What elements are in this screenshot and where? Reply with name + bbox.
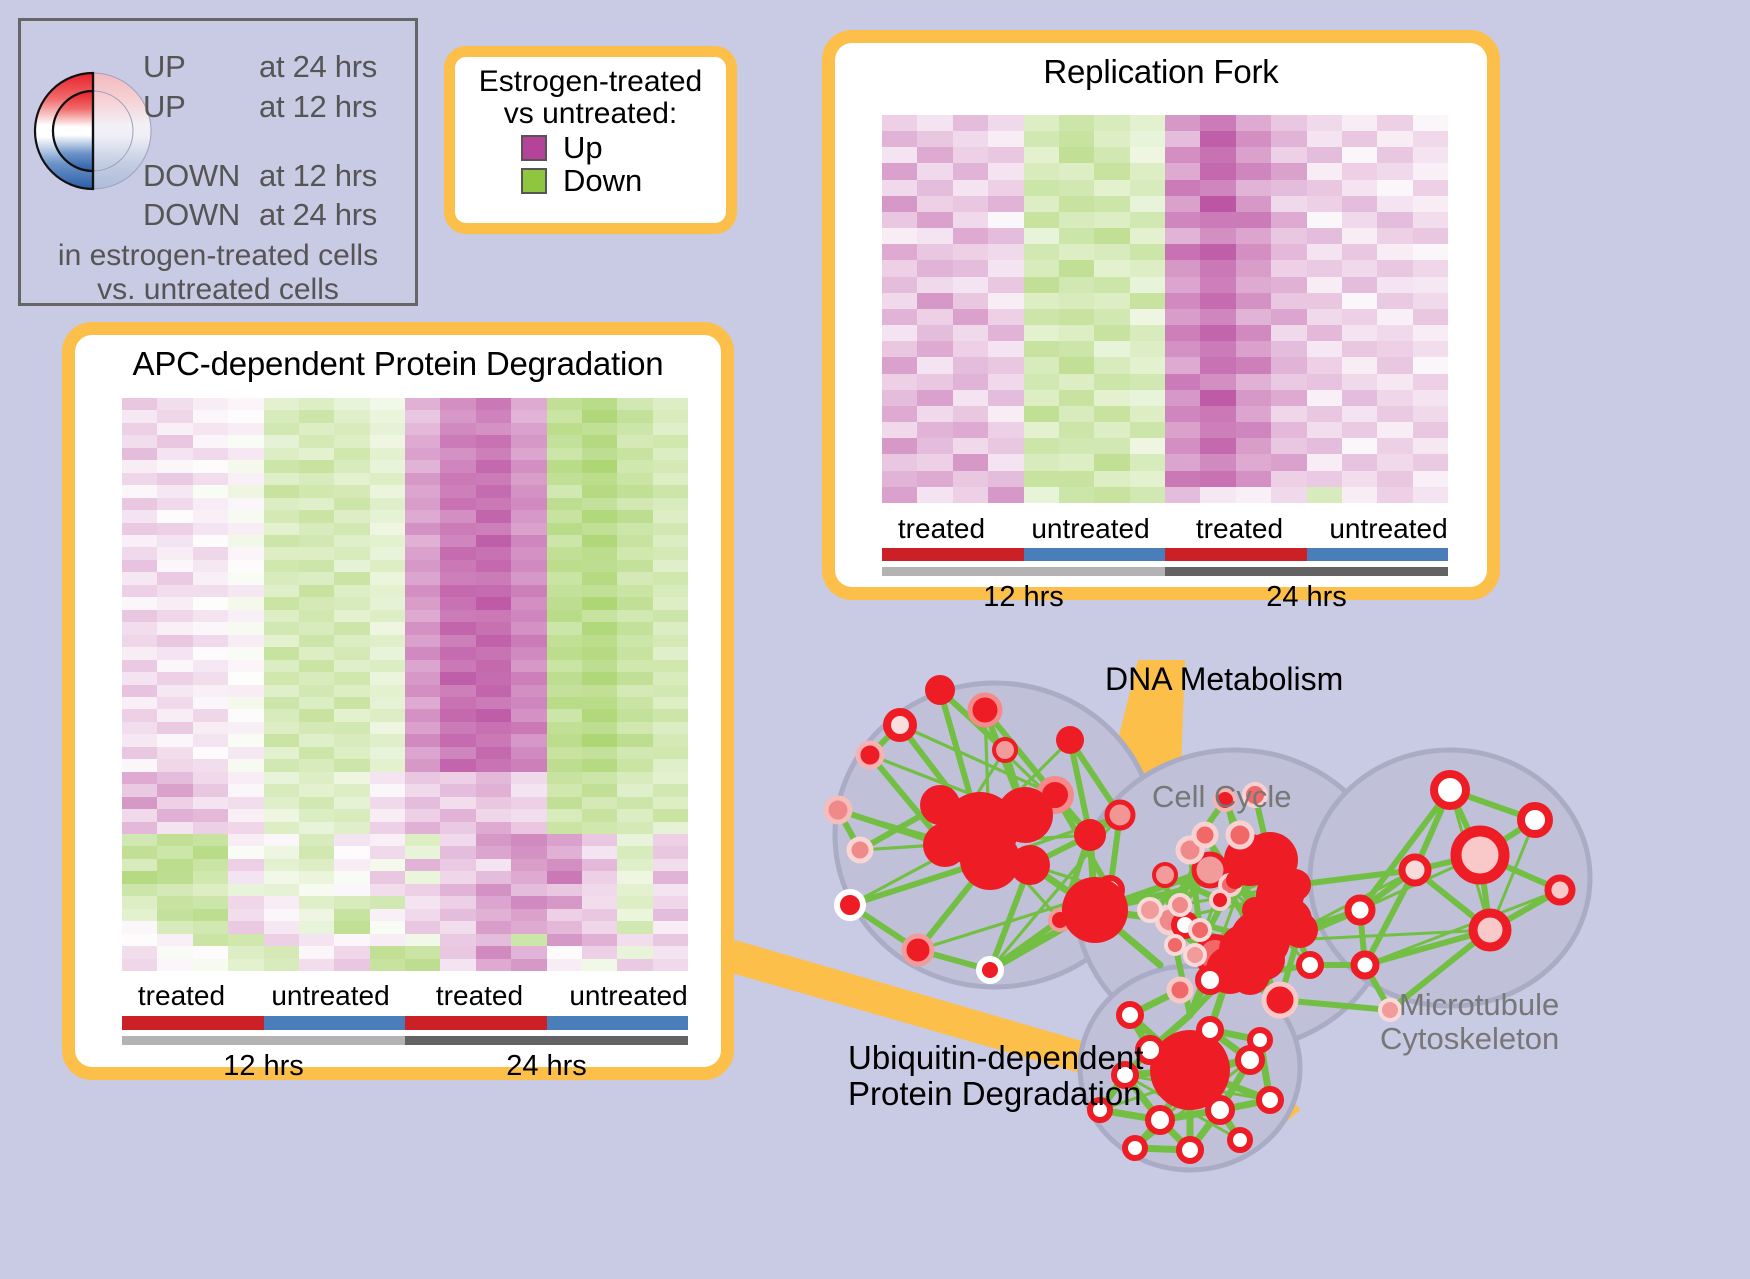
heatmap-cell <box>582 846 617 858</box>
heatmap-cell <box>1377 309 1412 325</box>
heatmap-cell <box>193 610 228 622</box>
heatmap-cell <box>617 959 652 971</box>
legend-label-up: Up <box>563 132 603 163</box>
heatmap-cell <box>988 244 1023 260</box>
heatmap-cell <box>122 610 157 622</box>
heatmap-cell <box>193 448 228 460</box>
heatmap-cell <box>653 622 688 634</box>
heatmap-cell <box>157 697 192 709</box>
heatmap-cell <box>617 747 652 759</box>
heatmap-cell <box>264 510 299 522</box>
heatmap-cell <box>617 498 652 510</box>
heatmap-cell <box>299 585 334 597</box>
heatmap-cell <box>405 510 440 522</box>
heatmap-cell <box>122 734 157 746</box>
heatmap-cell <box>299 909 334 921</box>
heatmap-cell <box>547 498 582 510</box>
heatmap-cell <box>157 460 192 472</box>
heatmap-cell <box>1307 180 1342 196</box>
heatmap-cell <box>476 647 511 659</box>
time-segment <box>122 1036 405 1045</box>
heatmap-cell <box>228 622 263 634</box>
heatmap-cell <box>1165 454 1200 470</box>
heatmap-cell <box>476 697 511 709</box>
heatmap-cell <box>264 610 299 622</box>
heatmap-cell <box>1342 422 1377 438</box>
heatmap-cell <box>582 709 617 721</box>
heatmap-cell <box>1200 406 1235 422</box>
heatmap-cell <box>1059 341 1094 357</box>
heatmap-cell <box>370 871 405 883</box>
heatmap-cell <box>405 759 440 771</box>
heatmap-cell <box>917 454 952 470</box>
heatmap-cell <box>299 809 334 821</box>
heatmap-cell <box>511 672 546 684</box>
heatmap-cell <box>264 672 299 684</box>
heatmap-cell <box>617 523 652 535</box>
time-label: 24 hrs <box>1165 581 1448 614</box>
key-label-2: DOWN <box>143 158 259 194</box>
heatmap-cell <box>440 410 475 422</box>
heatmap-cell <box>228 535 263 547</box>
time-label: 24 hrs <box>405 1050 688 1083</box>
heatmap-cell <box>1130 277 1165 293</box>
heatmap-cell <box>1024 212 1059 228</box>
heatmap-cell <box>1307 309 1342 325</box>
heatmap-cell <box>264 759 299 771</box>
heatmap-cell <box>122 809 157 821</box>
heatmap-cell <box>1377 260 1412 276</box>
heatmap-cell <box>157 709 192 721</box>
heatmap-cell <box>193 797 228 809</box>
heatmap-cell <box>953 374 988 390</box>
time-label: 12 hrs <box>882 581 1165 614</box>
heatmap-cell <box>299 460 334 472</box>
heatmap-cell <box>882 147 917 163</box>
heatmap-cell <box>1307 454 1342 470</box>
heatmap-cell <box>440 647 475 659</box>
heatmap-cell <box>334 734 369 746</box>
heatmap-cell <box>370 809 405 821</box>
heatmap-cell <box>582 523 617 535</box>
heatmap-cell <box>193 585 228 597</box>
heatmap-cell <box>122 448 157 460</box>
heatmap-cell <box>370 685 405 697</box>
heatmap-cell <box>653 759 688 771</box>
heatmap-cell <box>1236 277 1271 293</box>
heatmap-cell <box>1307 196 1342 212</box>
sample-labels-replication-fork: treateduntreatedtreateduntreated <box>867 513 1463 545</box>
heatmap-cell <box>1059 438 1094 454</box>
heatmap-cell <box>653 460 688 472</box>
heatmap-cell <box>1236 374 1271 390</box>
heatmap-cell <box>440 809 475 821</box>
heatmap-cell <box>547 734 582 746</box>
heatmap-cell <box>264 809 299 821</box>
heatmap-cell <box>1165 163 1200 179</box>
heatmap-cell <box>264 585 299 597</box>
heatmap-cell <box>1236 180 1271 196</box>
heatmap-cell <box>617 784 652 796</box>
heatmap-cell <box>228 647 263 659</box>
heatmap-cell <box>547 822 582 834</box>
heatmap-cell <box>547 410 582 422</box>
heatmap-cell <box>228 846 263 858</box>
legend-panel: Estrogen-treated vs untreated: Up Down <box>444 46 737 234</box>
heatmap-cell <box>440 523 475 535</box>
heatmap-cell <box>1024 228 1059 244</box>
heatmap-cell <box>122 797 157 809</box>
heatmap-cell <box>122 622 157 634</box>
heatmap-cell <box>882 244 917 260</box>
heatmap-cell <box>264 398 299 410</box>
heatmap-cell <box>405 423 440 435</box>
heatmap-cell <box>653 547 688 559</box>
heatmap-cell <box>299 685 334 697</box>
heatmap-cell <box>511 959 546 971</box>
heatmap-cell <box>440 859 475 871</box>
heatmap-cell <box>1236 422 1271 438</box>
cluster-label-cell-cycle: Cell Cycle <box>1152 780 1292 814</box>
heatmap-cell <box>1413 471 1448 487</box>
heatmap-cell <box>299 859 334 871</box>
key-footer-line2: vs. untreated cells <box>21 273 415 307</box>
heatmap-cell <box>1413 341 1448 357</box>
heatmap-cell <box>882 406 917 422</box>
heatmap-cell <box>1271 260 1306 276</box>
heatmap-cell <box>264 834 299 846</box>
heatmap-cell <box>440 909 475 921</box>
heatmap-cell <box>511 473 546 485</box>
heatmap-cell <box>1059 406 1094 422</box>
heatmap-cell <box>228 585 263 597</box>
heatmap-cell <box>917 115 952 131</box>
heatmap-cell <box>157 896 192 908</box>
heatmap-cell <box>193 485 228 497</box>
heatmap-cell <box>547 523 582 535</box>
heatmap-cell <box>122 959 157 971</box>
panel-apc: APC-dependent Protein Degradation treate… <box>62 322 734 1080</box>
heatmap-cell <box>1413 244 1448 260</box>
legend-item-down: Down <box>521 165 726 196</box>
heatmap-cell <box>440 498 475 510</box>
heatmap-cell <box>547 398 582 410</box>
heatmap-cell <box>1271 115 1306 131</box>
heatmap-cell <box>511 772 546 784</box>
heatmap-cell <box>1271 309 1306 325</box>
heatmap-cell <box>1236 196 1271 212</box>
heatmap-cell <box>547 747 582 759</box>
heatmap-cell <box>264 946 299 958</box>
heatmap-cell <box>1271 212 1306 228</box>
heatmap-cell <box>1342 180 1377 196</box>
heatmap-cell <box>582 398 617 410</box>
heatmap-cell <box>476 535 511 547</box>
heatmap-cell <box>476 435 511 447</box>
heatmap-cell <box>157 535 192 547</box>
heatmap-cell <box>440 535 475 547</box>
heatmap-cell <box>1342 357 1377 373</box>
heatmap-cell <box>264 535 299 547</box>
heatmap-cell <box>476 709 511 721</box>
heatmap-cell <box>370 610 405 622</box>
heatmap-cell <box>157 510 192 522</box>
heatmap-cell <box>1130 115 1165 131</box>
heatmap-cell <box>882 454 917 470</box>
heatmap-cell <box>122 747 157 759</box>
color-key-diagram <box>33 31 153 231</box>
heatmap-cell <box>299 597 334 609</box>
heatmap-cell <box>157 747 192 759</box>
heatmap-cell <box>299 423 334 435</box>
heatmap-cell <box>405 921 440 933</box>
heatmap-cell <box>193 934 228 946</box>
heatmap-cell <box>370 909 405 921</box>
heatmap-cell <box>157 834 192 846</box>
heatmap-cell <box>440 959 475 971</box>
heatmap-cell <box>1059 260 1094 276</box>
heatmap-cell <box>882 260 917 276</box>
heatmap-cell <box>582 498 617 510</box>
sample-label: treated <box>107 980 256 1012</box>
panel-title-replication-fork: Replication Fork <box>835 53 1487 91</box>
heatmap-cell <box>334 685 369 697</box>
heatmap-cell <box>547 797 582 809</box>
heatmap-cell <box>228 448 263 460</box>
heatmap-cell <box>582 448 617 460</box>
heatmap-cell <box>1024 260 1059 276</box>
heatmap-cell <box>476 834 511 846</box>
heatmap-cell <box>299 772 334 784</box>
heatmap-cell <box>299 896 334 908</box>
heatmap-cell <box>370 734 405 746</box>
heatmap-cell <box>1024 406 1059 422</box>
heatmap-cell <box>653 597 688 609</box>
heatmap-cell <box>334 809 369 821</box>
cluster-label-ubiquitin-line2: Protein Degradation <box>848 1076 1143 1112</box>
heatmap-cell <box>547 921 582 933</box>
heatmap-cell <box>264 747 299 759</box>
heatmap-cell <box>1413 374 1448 390</box>
heatmap-cell <box>157 846 192 858</box>
heatmap-cell <box>1059 422 1094 438</box>
heatmap-cell <box>264 734 299 746</box>
heatmap-cell <box>511 896 546 908</box>
heatmap-cell <box>1377 438 1412 454</box>
heatmap-cell <box>157 772 192 784</box>
heatmap-cell <box>157 547 192 559</box>
treatment-segment <box>405 1016 547 1030</box>
heatmap-cell <box>1165 325 1200 341</box>
heatmap-cell <box>370 460 405 472</box>
heatmap-cell <box>476 672 511 684</box>
heatmap-cell <box>193 498 228 510</box>
heatmap-cell <box>122 697 157 709</box>
heatmap-cell <box>582 722 617 734</box>
heatmap-cell <box>511 759 546 771</box>
heatmap-cell <box>1271 228 1306 244</box>
heatmap-cell <box>1342 212 1377 228</box>
heatmap-cell <box>1165 260 1200 276</box>
heatmap-cell <box>476 772 511 784</box>
heatmap-cell <box>1342 293 1377 309</box>
heatmap-cell <box>582 772 617 784</box>
heatmap-cell <box>157 410 192 422</box>
key-label-1: UP <box>143 89 259 125</box>
heatmap-cell <box>334 946 369 958</box>
heatmap-cell <box>1024 115 1059 131</box>
heatmap-cell <box>264 572 299 584</box>
heatmap-cell <box>988 228 1023 244</box>
heatmap-cell <box>511 909 546 921</box>
heatmap-cell <box>157 784 192 796</box>
heatmap-cell <box>547 510 582 522</box>
heatmap-cell <box>882 196 917 212</box>
heatmap-cell <box>122 460 157 472</box>
heatmap-cell <box>228 871 263 883</box>
heatmap-cell <box>370 485 405 497</box>
heatmap-cell <box>370 510 405 522</box>
heatmap-cell <box>988 357 1023 373</box>
heatmap-cell <box>193 759 228 771</box>
heatmap-cell <box>476 498 511 510</box>
heatmap-cell <box>1059 244 1094 260</box>
heatmap-cell <box>1200 115 1235 131</box>
heatmap-cell <box>917 438 952 454</box>
heatmap-cell <box>988 487 1023 503</box>
heatmap-cell <box>440 610 475 622</box>
heatmap-cell <box>1307 277 1342 293</box>
heatmap-cell <box>228 822 263 834</box>
heatmap-cell <box>1200 471 1235 487</box>
heatmap-cell <box>953 244 988 260</box>
heatmap-cell <box>988 438 1023 454</box>
heatmap-cell <box>157 610 192 622</box>
heatmap-cell <box>405 485 440 497</box>
heatmap-cell <box>476 809 511 821</box>
heatmap-cell <box>193 846 228 858</box>
heatmap-cell <box>370 398 405 410</box>
heatmap-cell <box>1377 471 1412 487</box>
legend-swatch-up <box>521 135 547 161</box>
heatmap-cell <box>193 622 228 634</box>
heatmap-cell <box>440 597 475 609</box>
heatmap-cell <box>370 523 405 535</box>
heatmap-cell <box>1342 260 1377 276</box>
heatmap-cell <box>299 934 334 946</box>
heatmap-cell <box>334 510 369 522</box>
heatmap-cell <box>882 438 917 454</box>
heatmap-cell <box>1307 390 1342 406</box>
heatmap-cell <box>1130 293 1165 309</box>
heatmap-cell <box>917 131 952 147</box>
heatmap-cell <box>953 309 988 325</box>
heatmap-cell <box>1377 244 1412 260</box>
heatmap-cell <box>617 934 652 946</box>
heatmap-cell <box>1094 309 1129 325</box>
heatmap-cell <box>1413 390 1448 406</box>
heatmap-cell <box>1024 438 1059 454</box>
heatmap-cell <box>1130 357 1165 373</box>
heatmap-cell <box>1094 406 1129 422</box>
heatmap-cell <box>582 560 617 572</box>
heatmap-cell <box>547 597 582 609</box>
heatmap-cell <box>157 934 192 946</box>
heatmap-cell <box>476 423 511 435</box>
heatmap-cell <box>405 597 440 609</box>
heatmap-cell <box>953 438 988 454</box>
heatmap-cell <box>547 946 582 958</box>
heatmap-cell <box>547 485 582 497</box>
heatmap-cell <box>988 131 1023 147</box>
heatmap-cell <box>1342 228 1377 244</box>
heatmap-cell <box>476 560 511 572</box>
color-key-box: UPat 24 hrs UPat 12 hrs DOWNat 12 hrs DO… <box>18 18 418 306</box>
heatmap-cell <box>917 293 952 309</box>
heatmap-cell <box>988 341 1023 357</box>
heatmap-cell <box>299 622 334 634</box>
heatmap-cell <box>1377 406 1412 422</box>
heatmap-cell <box>193 734 228 746</box>
heatmap-cell <box>617 734 652 746</box>
heatmap-cell <box>264 909 299 921</box>
heatmap-cell <box>370 884 405 896</box>
heatmap-cell <box>228 884 263 896</box>
heatmap-cell <box>1377 228 1412 244</box>
heatmap-cell <box>264 660 299 672</box>
heatmap-cell <box>440 896 475 908</box>
heatmap-cell <box>264 485 299 497</box>
heatmap-cell <box>1130 196 1165 212</box>
heatmap-cell <box>1130 454 1165 470</box>
heatmap-cell <box>953 163 988 179</box>
heatmap-replication-fork <box>882 115 1448 503</box>
heatmap-cell <box>370 585 405 597</box>
heatmap-cell <box>1413 196 1448 212</box>
heatmap-cell <box>1200 325 1235 341</box>
heatmap-cell <box>405 709 440 721</box>
cluster-label-ubiquitin: Ubiquitin-dependent Protein Degradation <box>848 1040 1143 1113</box>
heatmap-cell <box>653 946 688 958</box>
heatmap-cell <box>370 672 405 684</box>
heatmap-cell <box>1130 228 1165 244</box>
heatmap-cell <box>988 422 1023 438</box>
heatmap-cell <box>476 921 511 933</box>
heatmap-cell <box>405 859 440 871</box>
heatmap-cell <box>193 747 228 759</box>
heatmap-cell <box>1094 163 1129 179</box>
heatmap-cell <box>1094 244 1129 260</box>
heatmap-cell <box>1307 374 1342 390</box>
heatmap-cell <box>1413 406 1448 422</box>
heatmap-cell <box>157 921 192 933</box>
heatmap-cell <box>334 909 369 921</box>
heatmap-cell <box>1165 422 1200 438</box>
heatmap-cell <box>653 647 688 659</box>
heatmap-cell <box>547 547 582 559</box>
heatmap-cell <box>1342 341 1377 357</box>
heatmap-cell <box>193 435 228 447</box>
heatmap-cell <box>193 884 228 896</box>
heatmap-cell <box>1236 325 1271 341</box>
heatmap-cell <box>228 435 263 447</box>
heatmap-cell <box>405 809 440 821</box>
heatmap-cell <box>547 909 582 921</box>
heatmap-cell <box>511 510 546 522</box>
heatmap-cell <box>405 635 440 647</box>
heatmap-cell <box>1236 260 1271 276</box>
heatmap-cell <box>511 697 546 709</box>
